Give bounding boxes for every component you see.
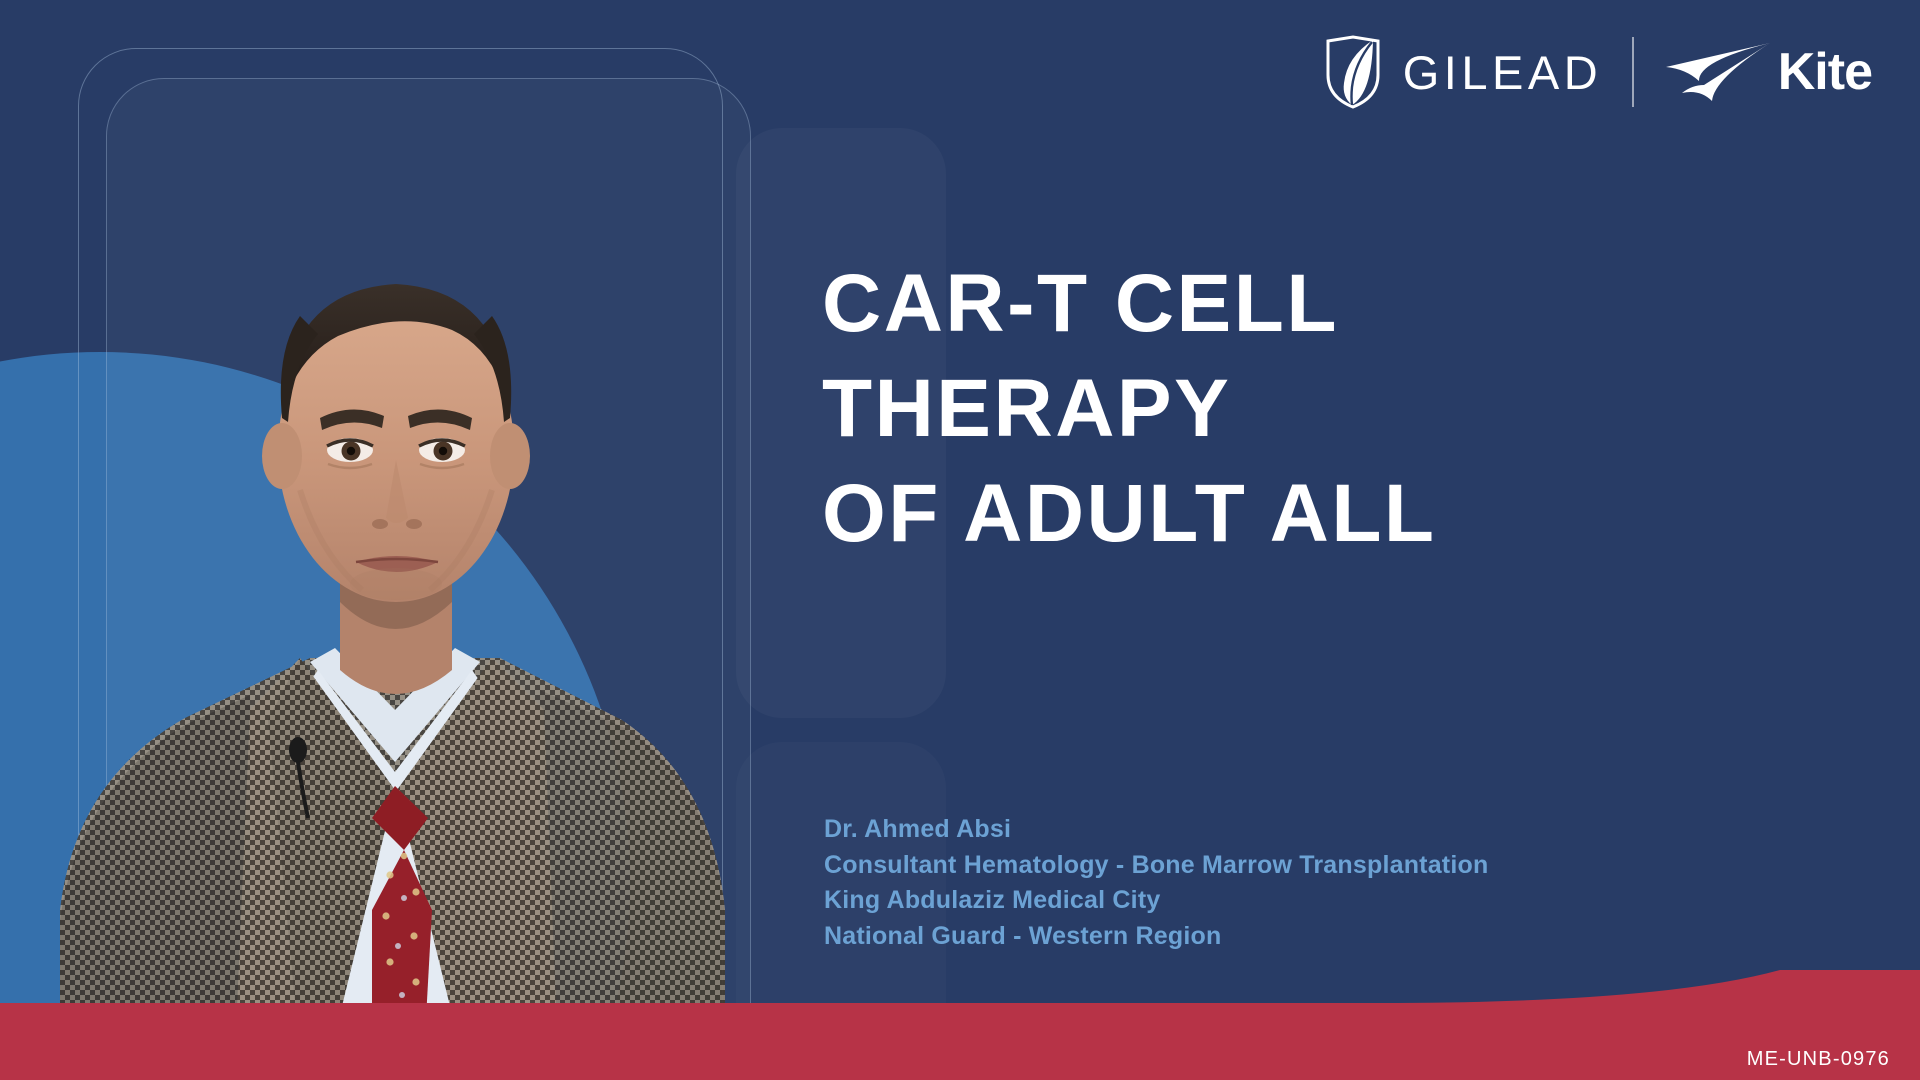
presenter-role: Consultant Hematology - Bone Marrow Tran… <box>824 848 1824 884</box>
material-code: ME-UNB-0976 <box>1747 1048 1890 1071</box>
gilead-wordmark: GILEAD <box>1403 49 1602 96</box>
title-line-1: CAR-T CELL <box>822 252 1882 357</box>
footer-bar: ME-UNB-0976 <box>0 970 1920 1080</box>
gilead-shield-leaf-icon <box>1325 35 1381 109</box>
logo-divider <box>1632 37 1634 107</box>
kite-paper-plane-icon <box>1664 41 1774 103</box>
presenter-photo <box>0 150 810 1055</box>
gilead-logo: GILEAD <box>1325 35 1602 109</box>
presenter-credentials: Dr. Ahmed Absi Consultant Hematology - B… <box>824 812 1824 954</box>
title-line-2: THERAPY <box>822 357 1882 462</box>
presenter-region: National Guard - Western Region <box>824 919 1824 955</box>
brand-logo-bar: GILEAD Kite <box>1325 34 1872 110</box>
title-line-3: OF ADULT ALL <box>822 462 1882 567</box>
presenter-name: Dr. Ahmed Absi <box>824 812 1824 848</box>
page-title: CAR-T CELL THERAPY OF ADULT ALL <box>822 252 1882 567</box>
kite-logo: Kite <box>1664 41 1872 103</box>
kite-wordmark: Kite <box>1778 46 1872 98</box>
presentation-slide: GILEAD Kite CAR-T CELL THERAPY OF ADULT … <box>0 0 1920 1080</box>
presenter-institution: King Abdulaziz Medical City <box>824 883 1824 919</box>
